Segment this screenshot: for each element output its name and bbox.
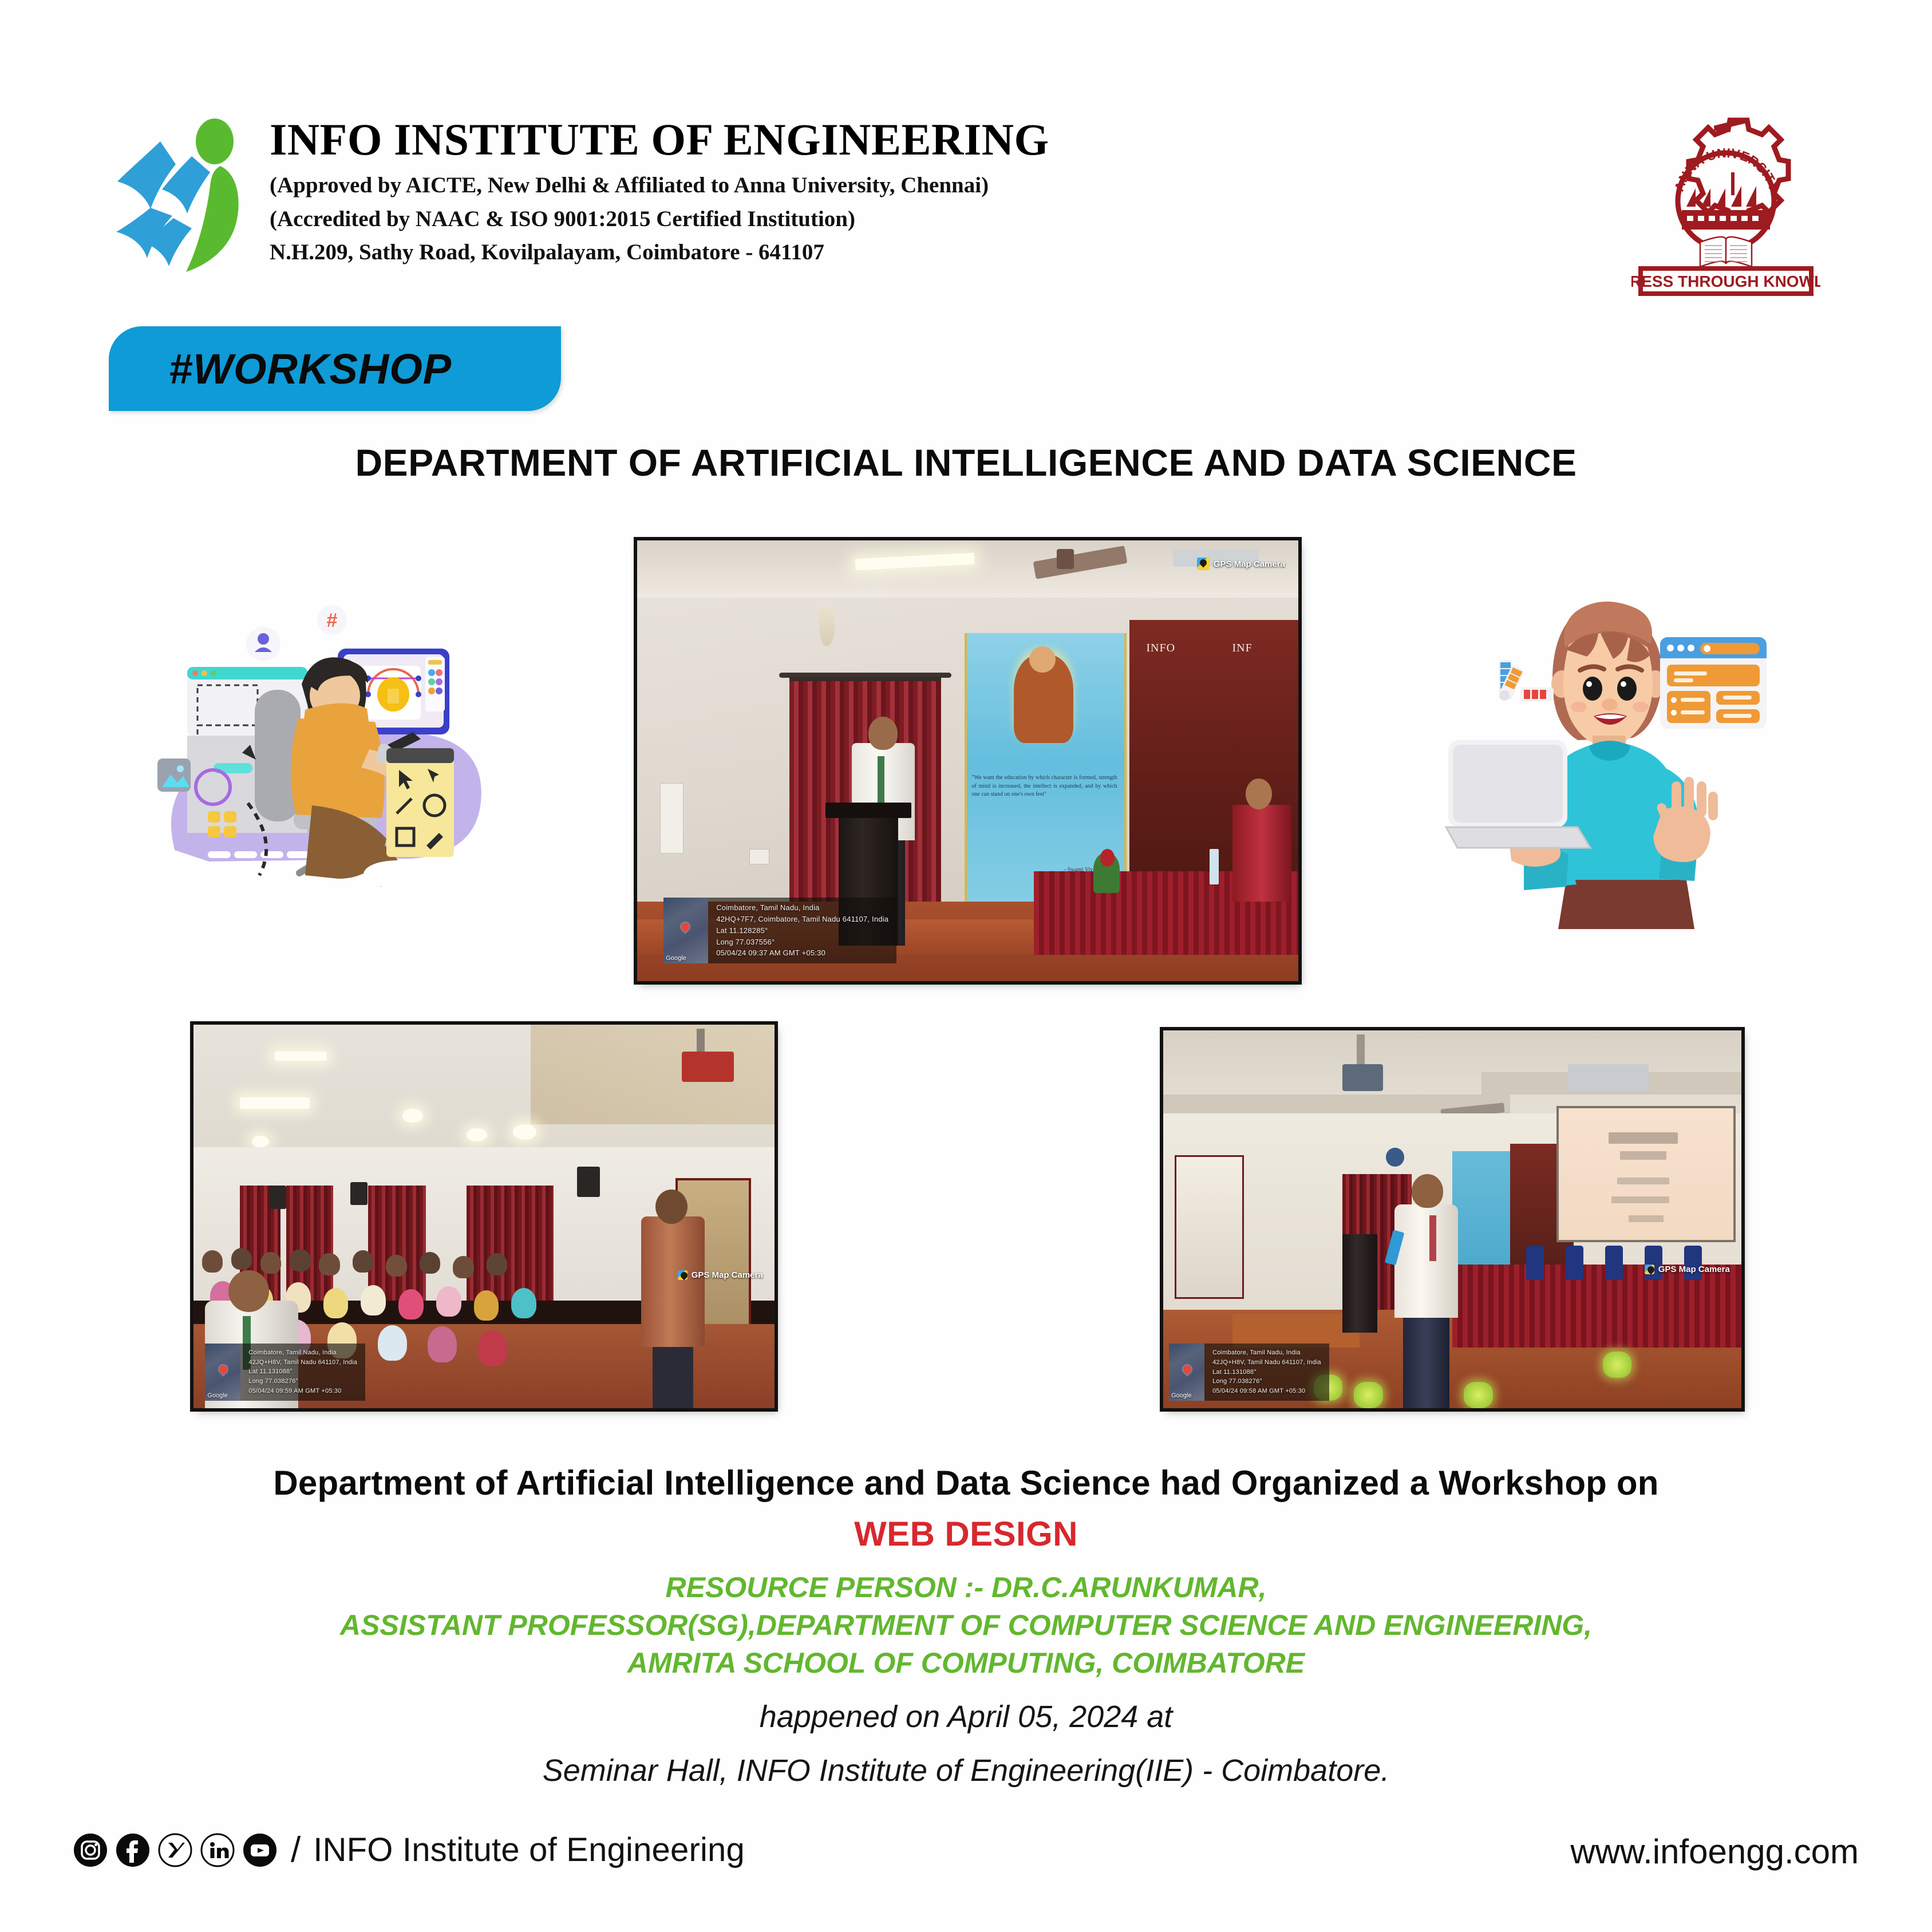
gps-brand-audience: GPS Map Camera (678, 1270, 763, 1280)
gps-timestamp: 05/04/24 09:58 AM GMT +05:30 (1212, 1386, 1321, 1396)
photo-resource-person: GPS Map Camera Google Coimbatore, Tamil … (1163, 1030, 1741, 1408)
gps-longitude: Long 77.038276° (248, 1377, 357, 1386)
institute-text-block: INFO INSTITUTE OF ENGINEERING (Approved … (270, 112, 1049, 267)
caption-headline: Department of Artificial Intelligence an… (0, 1463, 1932, 1503)
poster-header: INFO INSTITUTE OF ENGINEERING (Approved … (0, 112, 1932, 318)
institute-name: INFO INSTITUTE OF ENGINEERING (270, 117, 1049, 162)
gps-longitude: Long 77.038276° (1212, 1377, 1321, 1386)
gps-latitude: Lat 11.131088° (248, 1367, 357, 1377)
caption-date: happened on April 05, 2024 at (0, 1699, 1932, 1735)
workshop-badge: #WORKSHOP (109, 326, 561, 411)
gps-latitude: Lat 11.128285° (716, 925, 888, 937)
gps-place: Coimbatore, Tamil Nadu, India (1212, 1348, 1321, 1358)
gps-map-attribution: Google (207, 1392, 227, 1399)
caption-topic: WEB DESIGN (0, 1514, 1932, 1554)
gps-minimap-icon: Google (663, 898, 708, 963)
photo-audience: GPS Map Camera Google Coimbatore, Tamil … (193, 1025, 775, 1408)
gps-minimap-icon: Google (1169, 1344, 1204, 1401)
gps-map-attribution: Google (1171, 1392, 1191, 1399)
gps-brand-label: GPS Map Camera (1658, 1265, 1730, 1274)
photo-main-speaker: "We want the education by which characte… (637, 540, 1298, 981)
gps-timestamp: 05/04/24 09:59 AM GMT +05:30 (248, 1386, 357, 1396)
svg-text:#: # (327, 610, 338, 631)
gps-overlay-main: Google Coimbatore, Tamil Nadu, India 42H… (663, 898, 896, 963)
caption-resource-line-3: AMRITA SCHOOL OF COMPUTING, COIMBATORE (0, 1646, 1932, 1680)
institute-address-line: N.H.209, Sathy Road, Kovilpalayam, Coimb… (270, 238, 1049, 267)
gps-place: Coimbatore, Tamil Nadu, India (248, 1348, 357, 1358)
banner-info-logo-text: INFO (1146, 642, 1175, 655)
linkedin-icon[interactable] (200, 1833, 235, 1867)
institute-branding: INFO INSTITUTE OF ENGINEERING (Approved … (106, 112, 1049, 280)
gps-longitude: Long 77.037556° (716, 937, 888, 948)
poster-canvas: INFO INSTITUTE OF ENGINEERING (Approved … (0, 0, 1932, 1932)
footer-separator: / (291, 1832, 301, 1868)
department-title: DEPARTMENT OF ARTIFICIAL INTELLIGENCE AN… (0, 441, 1932, 484)
gps-map-camera-icon (678, 1270, 688, 1280)
x-twitter-icon[interactable] (158, 1833, 192, 1867)
facebook-icon[interactable] (116, 1833, 150, 1867)
anna-university-logo-icon: PROGRESS THROUGH KNOWLEDGE ANNA UNIVERSI… (1631, 115, 1820, 297)
gps-brand-label: GPS Map Camera (1214, 559, 1285, 569)
gps-brand-label: GPS Map Camera (692, 1270, 763, 1280)
gps-minimap-icon: Google (205, 1344, 240, 1401)
instagram-icon[interactable] (73, 1833, 108, 1867)
gps-address: 42HQ+7F7, Coimbatore, Tamil Nadu 641107,… (716, 914, 888, 925)
gps-timestamp: 05/04/24 09:37 AM GMT +05:30 (716, 947, 888, 959)
institute-approval-line: (Approved by AICTE, New Delhi & Affiliat… (270, 171, 1049, 200)
gps-brand-main: GPS Map Camera (1197, 558, 1285, 570)
info-institute-logo-icon (106, 117, 249, 280)
footer-handle: INFO Institute of Engineering (313, 1831, 745, 1869)
banner-info-logo-text-right: INF (1232, 642, 1253, 655)
woman-holding-laptop-illustration-icon (1443, 592, 1769, 930)
caption-resource-line-2: ASSISTANT PROFESSOR(SG),DEPARTMENT OF CO… (0, 1609, 1932, 1642)
gps-map-camera-icon (1197, 558, 1210, 570)
caption-venue: Seminar Hall, INFO Institute of Engineer… (0, 1753, 1932, 1788)
institute-accreditation-line: (Accredited by NAAC & ISO 9001:2015 Cert… (270, 205, 1049, 234)
gps-map-camera-icon (1645, 1265, 1654, 1274)
designer-at-desk-illustration-icon: # T (140, 581, 501, 942)
gps-latitude: Lat 11.131088° (1212, 1368, 1321, 1377)
gps-place: Coimbatore, Tamil Nadu, India (716, 902, 888, 914)
gps-address: 42JQ+H8V, Tamil Nadu 641107, India (248, 1358, 357, 1368)
gps-overlay-audience: Google Coimbatore, Tamil Nadu, India 42J… (205, 1344, 365, 1401)
anna-university-motto: PROGRESS THROUGH KNOWLEDGE (1631, 272, 1820, 290)
caption-resource-line-1: RESOURCE PERSON :- DR.C.ARUNKUMAR, (0, 1571, 1932, 1604)
banner-quote-text: "We want the education by which characte… (971, 774, 1117, 799)
youtube-icon[interactable] (243, 1833, 277, 1867)
workshop-badge-label: #WORKSHOP (169, 345, 452, 393)
gps-brand-resource: GPS Map Camera (1645, 1265, 1730, 1274)
footer-social-block: / INFO Institute of Engineering (73, 1831, 745, 1869)
footer-website[interactable]: www.infoengg.com (1570, 1832, 1859, 1871)
gps-address: 42JQ+H8V, Tamil Nadu 641107, India (1212, 1358, 1321, 1368)
gps-overlay-resource: Google Coimbatore, Tamil Nadu, India 42J… (1169, 1344, 1329, 1401)
gps-map-attribution: Google (666, 955, 686, 962)
